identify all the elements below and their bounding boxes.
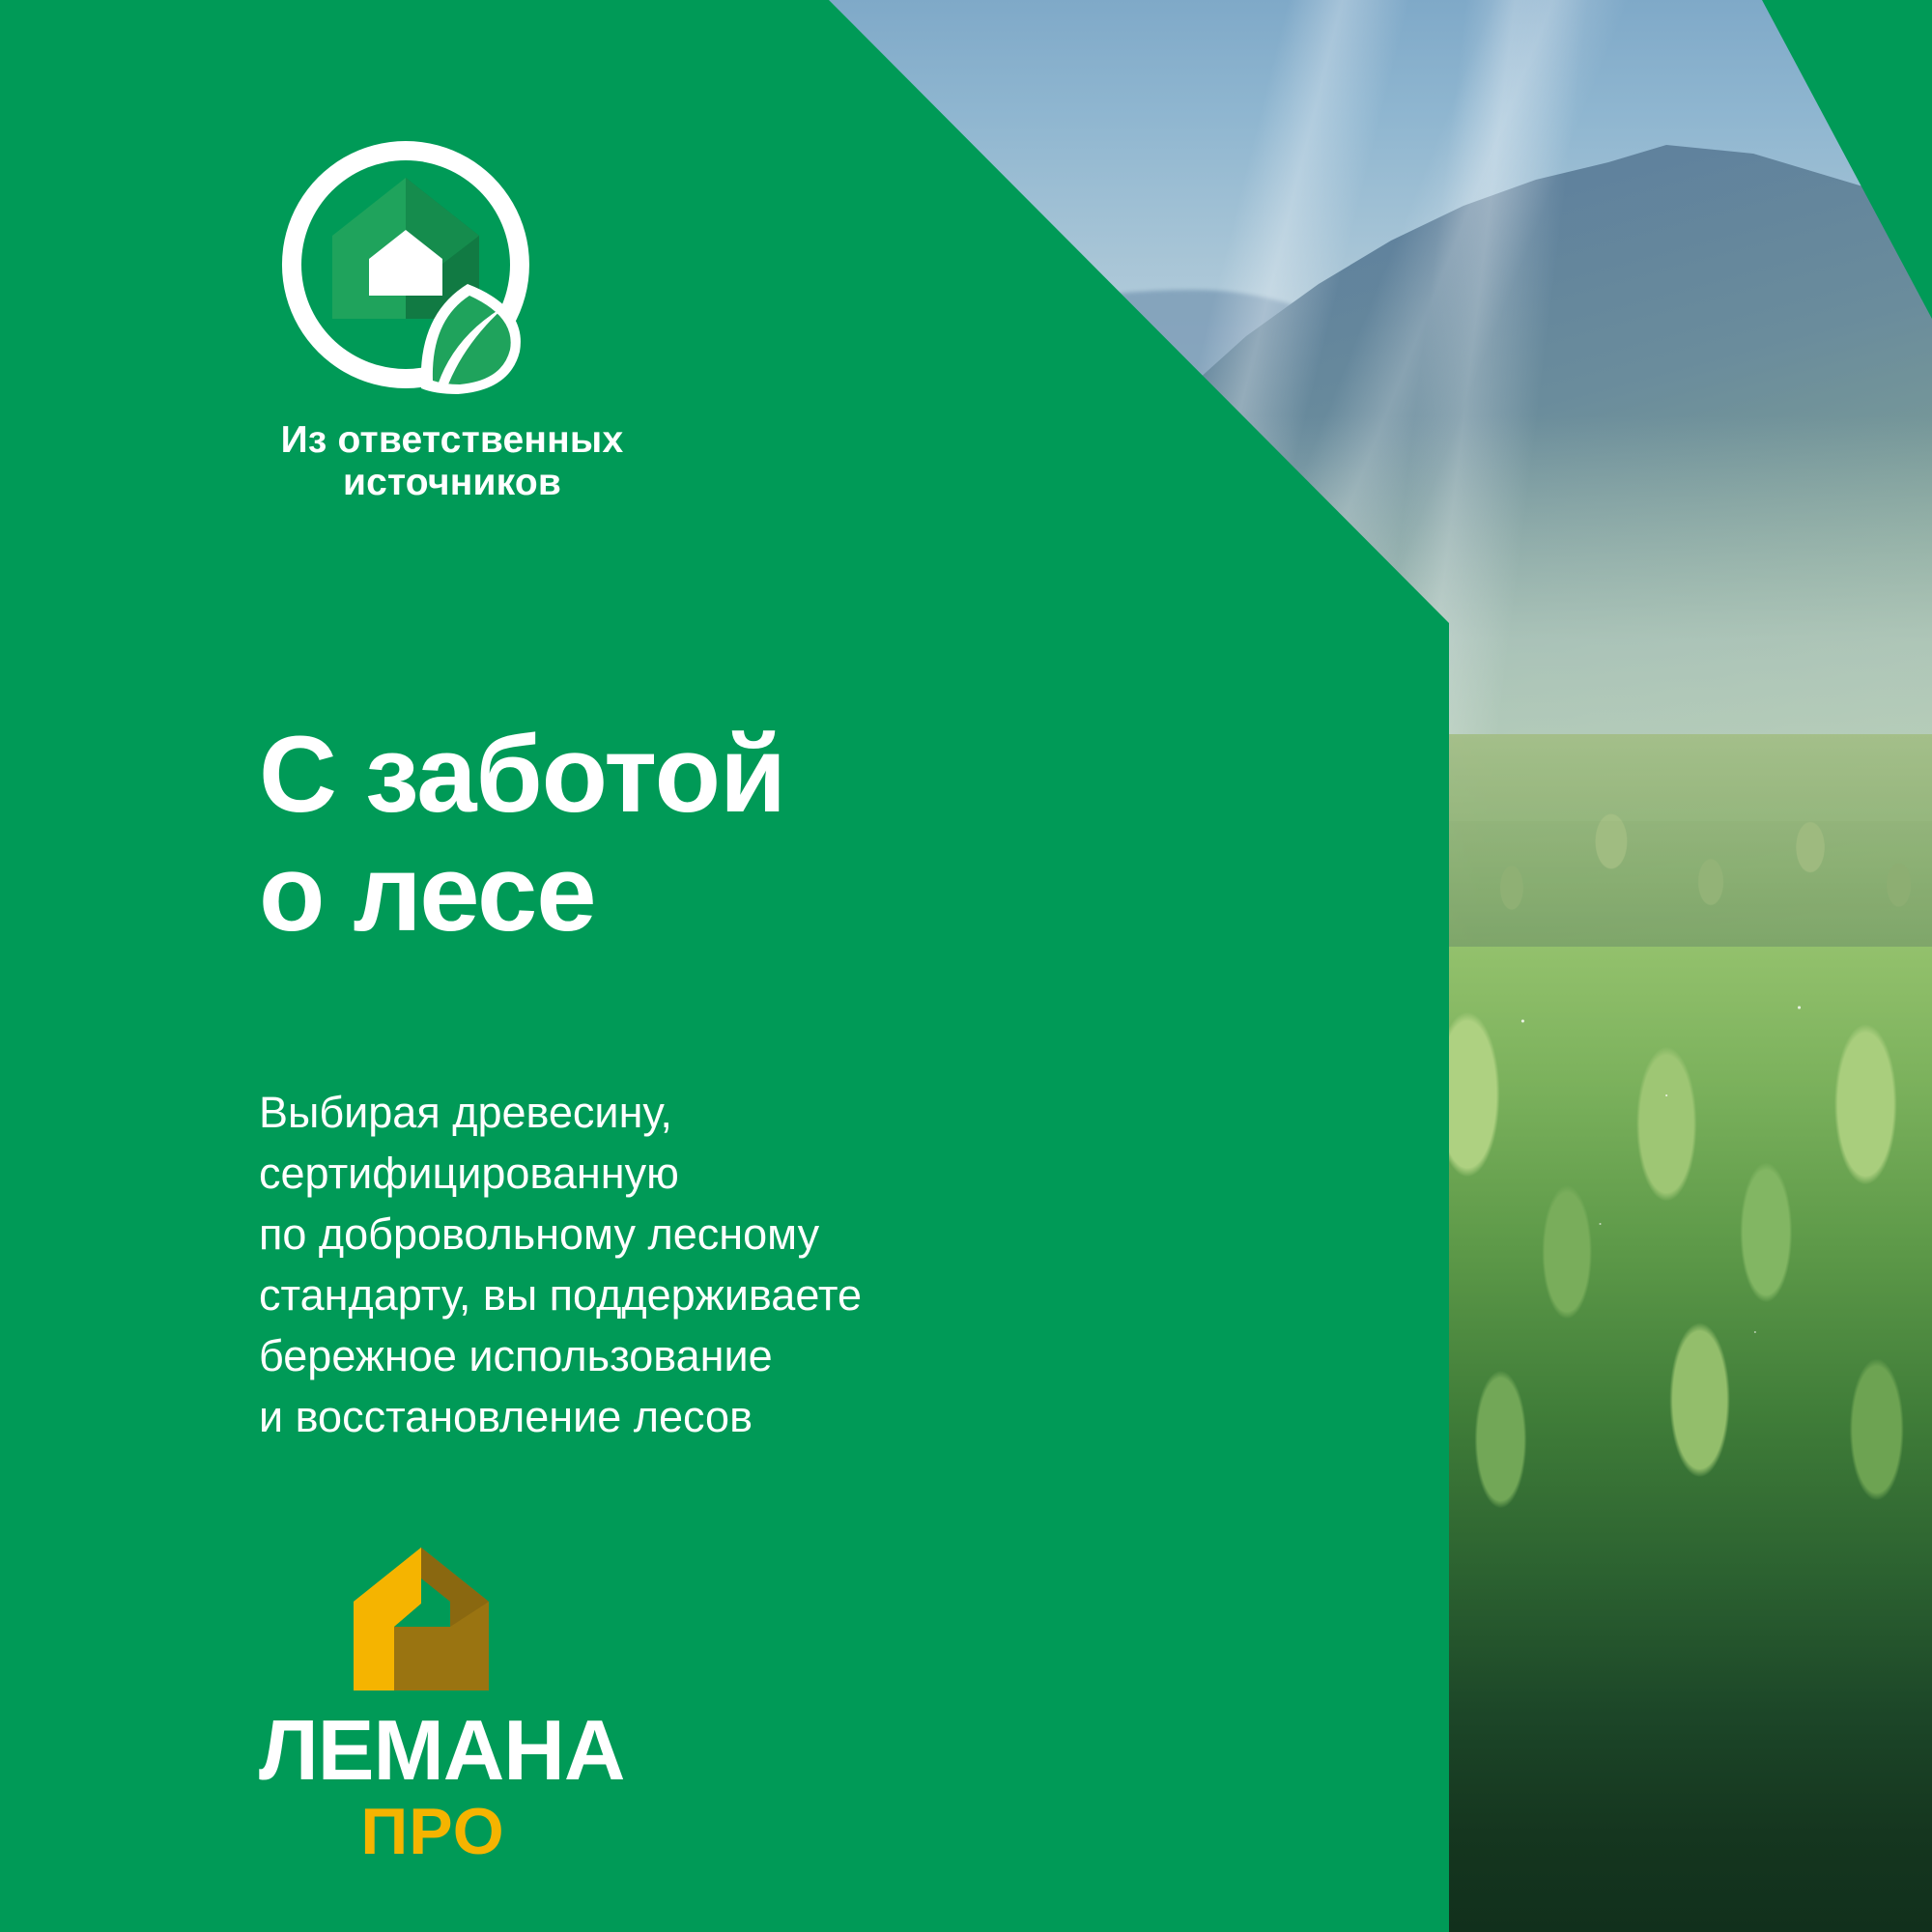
circle-house-leaf-icon xyxy=(276,135,535,394)
body-copy: Выбирая древесину, сертифицированную по … xyxy=(259,1082,1022,1447)
content-layer: Из ответственных источников С заботой о … xyxy=(0,0,1449,1932)
lemana-house-icon xyxy=(344,1546,498,1692)
brand-logo: ЛЕМАНА ПРО xyxy=(259,1546,607,1864)
poster: Из ответственных источников С заботой о … xyxy=(0,0,1932,1932)
page-title: С заботой о лесе xyxy=(259,715,785,952)
brand-name: ЛЕМАНА xyxy=(259,1708,607,1793)
certification-badge: Из ответственных источников xyxy=(259,135,665,503)
certification-caption: Из ответственных источников xyxy=(259,419,645,503)
brand-subname: ПРО xyxy=(259,1799,607,1864)
